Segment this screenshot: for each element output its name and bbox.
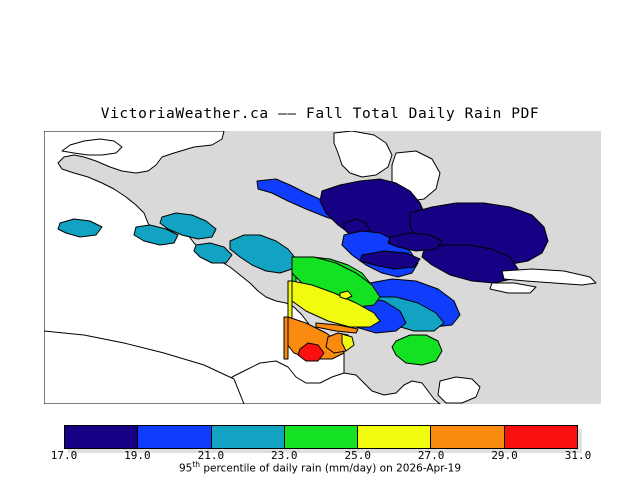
colorbar	[64, 425, 578, 449]
colorbar-band-21-23	[212, 426, 285, 448]
colorbar-band-23-25	[285, 426, 358, 448]
colorbar-band-27-29	[431, 426, 504, 448]
weather-map-page: VictoriaWeather.ca —— Fall Total Daily R…	[0, 0, 640, 480]
colorbar-band-17-19	[65, 426, 138, 448]
colorbar-band-19-21	[138, 426, 211, 448]
map-svg	[44, 131, 601, 404]
caption-superscript: th	[192, 460, 200, 469]
page-title: VictoriaWeather.ca —— Fall Total Daily R…	[0, 106, 640, 122]
colorbar-caption: 95th percentile of daily rain (mm/day) o…	[0, 460, 640, 475]
region-peninsula-orange-block	[284, 317, 288, 359]
colorbar-bands	[64, 425, 578, 449]
caption-suffix: percentile of daily rain (mm/day) on 202…	[200, 463, 461, 475]
colorbar-band-25-27	[358, 426, 431, 448]
map-canvas	[44, 131, 601, 404]
caption-prefix: 95	[179, 463, 192, 475]
colorbar-band-29-31	[505, 426, 577, 448]
